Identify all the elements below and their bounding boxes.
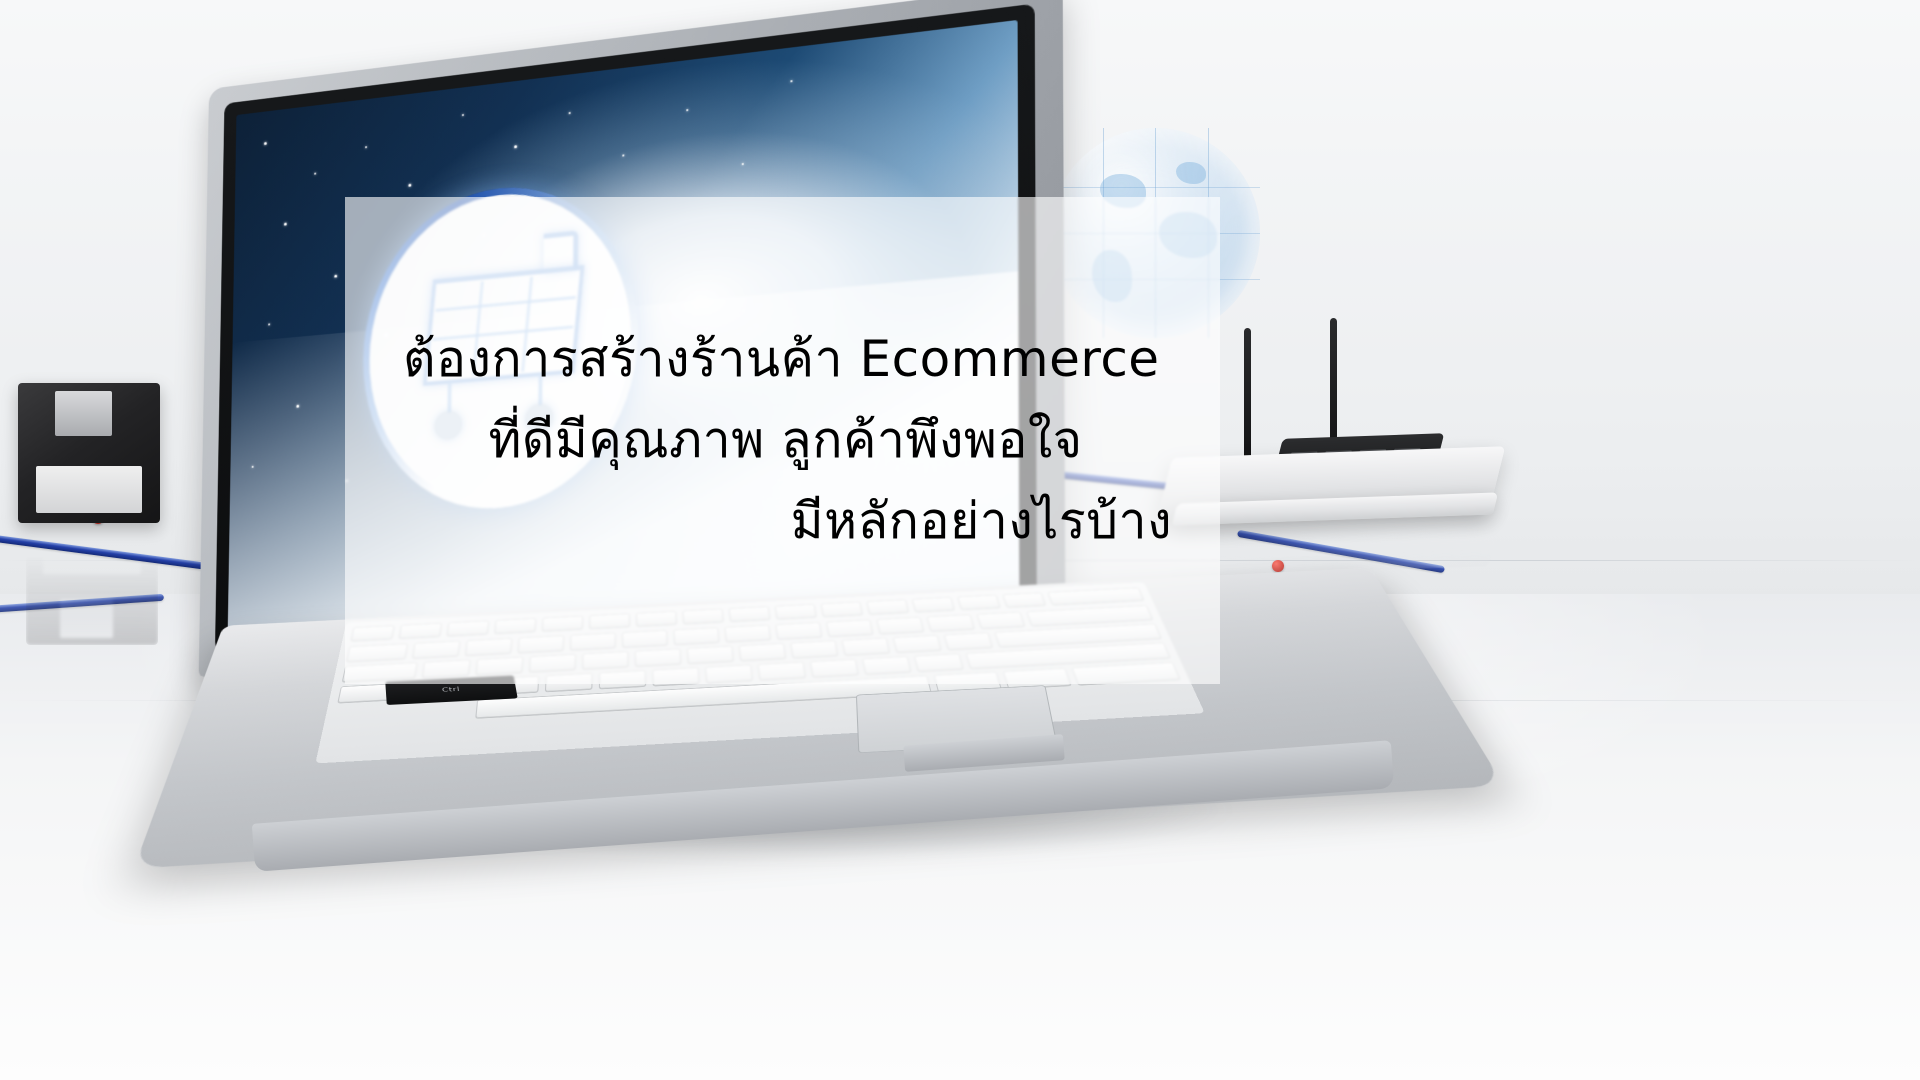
headline-overlay-panel: ต้องการสร้างร้านค้า Ecommerce ที่ดีมีคุณ… <box>345 197 1220 684</box>
banner-stage: Ctrl ต้องการสร้างร้านค้า Ecommerce ที่ดี… <box>0 0 1920 1080</box>
headline-line-3: มีหลักอย่างไรบ้าง <box>385 486 1186 557</box>
ctrl-key-label: Ctrl <box>442 686 461 693</box>
headline-line-2: ที่ดีมีคุณภาพ ลูกค้าพึงพอใจ <box>385 405 1186 476</box>
headline-line-1: ต้องการสร้างร้านค้า Ecommerce <box>385 324 1186 395</box>
